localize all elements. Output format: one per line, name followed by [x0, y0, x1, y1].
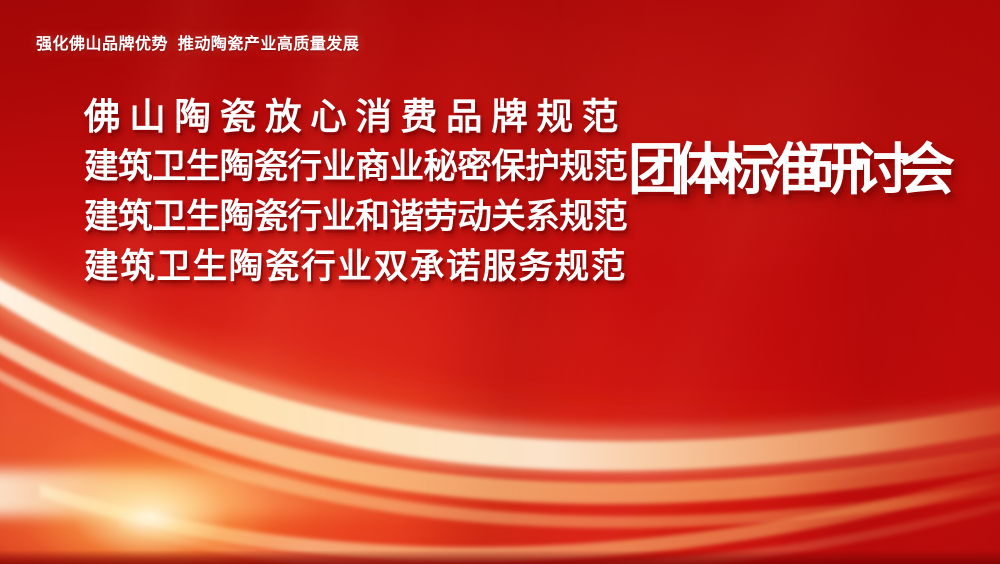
standards-title-list: 佛山陶瓷放心消费品牌规范 建筑卫生陶瓷行业商业秘密保护规范 建筑卫生陶瓷行业和谐… [84, 92, 629, 292]
standard-title-2: 建筑卫生陶瓷行业商业秘密保护规范 [84, 142, 629, 192]
poster-canvas: 强化佛山品牌优势 推动陶瓷产业高质量发展 佛山陶瓷放心消费品牌规范 建筑卫生陶瓷… [0, 0, 1000, 564]
poster-subtitle: 强化佛山品牌优势 推动陶瓷产业高质量发展 [36, 30, 359, 54]
standard-title-3: 建筑卫生陶瓷行业和谐劳动关系规范 [84, 192, 629, 242]
poster-content: 强化佛山品牌优势 推动陶瓷产业高质量发展 佛山陶瓷放心消费品牌规范 建筑卫生陶瓷… [0, 0, 1000, 564]
standard-title-4: 建筑卫生陶瓷行业双承诺服务规范 [84, 242, 629, 292]
standard-title-1: 佛山陶瓷放心消费品牌规范 [84, 92, 629, 142]
event-headline: 团体标准研讨会 [628, 136, 944, 204]
